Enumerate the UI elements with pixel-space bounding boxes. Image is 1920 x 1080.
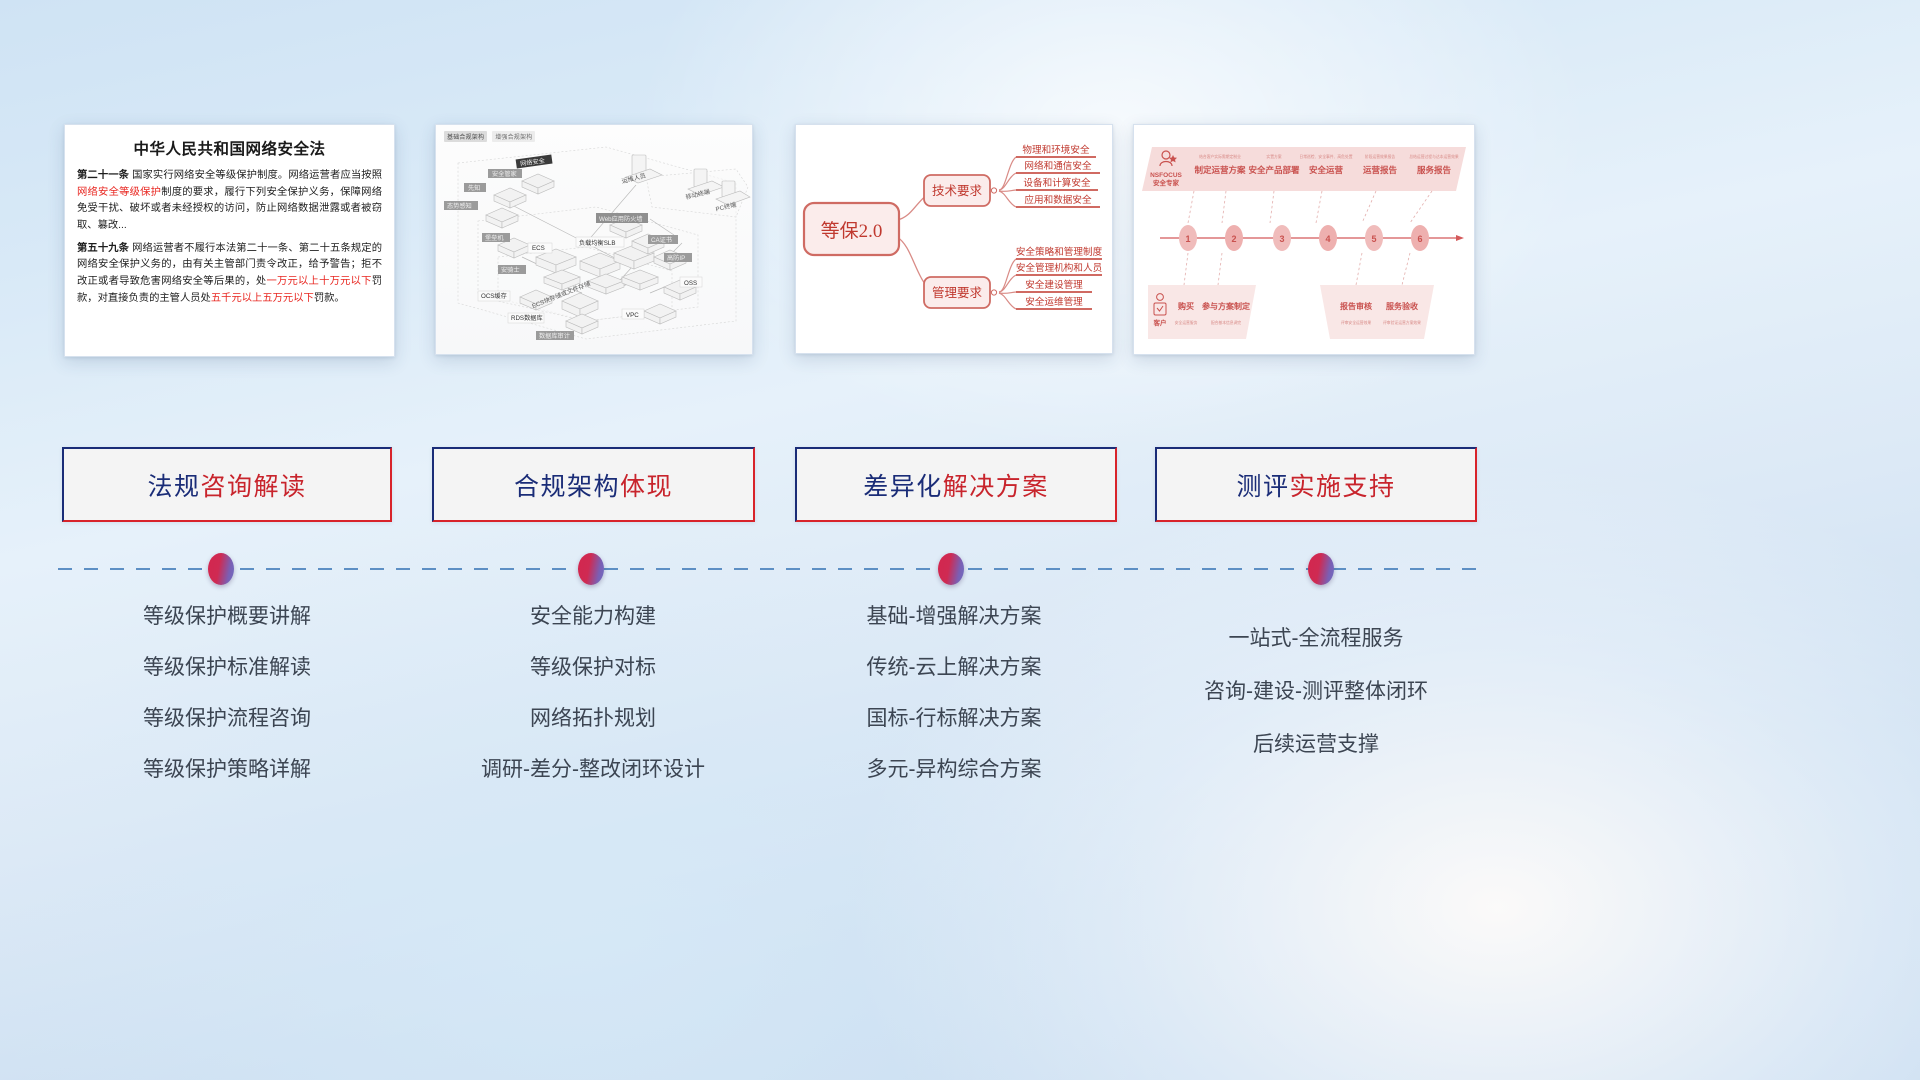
architecture-svg: 网络安全 安全管家 先知 态势感知 堡垒机 ECS 安骑士 xyxy=(436,125,753,355)
bottom-banner-right xyxy=(1320,285,1434,339)
headline-blue-part: 合规架构 xyxy=(514,473,620,501)
timeline-step-number: 6 xyxy=(1417,234,1422,244)
mindmap-root-label: 等保2.0 xyxy=(821,220,883,242)
arch-node-label: 高防IP xyxy=(667,254,685,262)
arch-node-label: ECS xyxy=(532,245,545,252)
list-item: 基础-增强解决方案 xyxy=(790,606,1118,627)
headline-blue-part: 测评 xyxy=(1236,473,1289,501)
top-step-sub: 日常巡检、安全事件、高危处置 xyxy=(1299,154,1352,159)
arch-node-label: RDS数据库 xyxy=(511,314,543,322)
headline-box-assessment-support[interactable]: 测评实施支持 xyxy=(1155,447,1477,522)
timeline-step-number: 2 xyxy=(1231,234,1236,244)
headline-box-regulation-consulting[interactable]: 法规咨询解读 xyxy=(62,447,392,522)
card-cybersecurity-law: 中华人民共和国网络安全法 第二十一条 国家实行网络安全等级保护制度。网络运营者应… xyxy=(64,124,395,357)
list-item: 等级保护策略详解 xyxy=(62,759,392,780)
arch-node-label: CA证书 xyxy=(651,236,672,244)
headline-blue-part: 法规 xyxy=(147,473,200,501)
dashed-timeline-axis xyxy=(58,568,1478,570)
mindmap-leaf: 设备和计算安全 xyxy=(1023,177,1091,189)
top-step-sub: 阶段运营效果报告 xyxy=(1365,154,1396,159)
slide-canvas: 中华人民共和国网络安全法 第二十一条 国家实行网络安全等级保护制度。网络运营者应… xyxy=(0,0,1920,1080)
mindmap-leaf: 网络和通信安全 xyxy=(1024,160,1092,172)
arch-node-label: 安全管家 xyxy=(492,170,517,178)
timeline-step-number: 5 xyxy=(1371,234,1376,244)
mindmap-leaf: 安全管理机构和人员 xyxy=(1016,262,1102,274)
top-step-sub: 结合客户实际需期定制业 xyxy=(1199,154,1241,159)
top-step-main: 运营报告 xyxy=(1363,165,1398,175)
bottom-step-sub: 安全运营服务 xyxy=(1175,320,1198,325)
top-step-main: 制定运营方案 xyxy=(1194,165,1246,175)
top-step-main: 安全产品部署 xyxy=(1248,165,1300,175)
detail-column-compliance-architecture: 安全能力构建 等级保护对标 网络拓扑规划 调研-差分-整改闭环设计 xyxy=(430,606,756,810)
headline-box-differentiated-solution[interactable]: 差异化解决方案 xyxy=(795,447,1117,522)
headline-text: 测评实施支持 xyxy=(1236,467,1395,503)
timeline-step-number: 3 xyxy=(1279,234,1284,244)
mindmap-leaf: 安全建设管理 xyxy=(1025,279,1083,291)
service-timeline-diagram: NSFOCUS安全专家 结合客户实际需期定制业 制定运营方案 实置方案 安全产品… xyxy=(1134,125,1474,354)
list-item: 调研-差分-整改闭环设计 xyxy=(430,759,756,780)
list-item: 等级保护流程咨询 xyxy=(62,708,392,729)
headline-boxes-row: 法规咨询解读 合规架构体现 差异化解决方案 测评实施支持 xyxy=(0,447,1920,523)
headline-red-part: 实施支持 xyxy=(1290,473,1396,501)
top-step-sub: 实置方案 xyxy=(1266,154,1281,159)
list-item: 咨询-建设-测评整体闭环 xyxy=(1150,681,1482,702)
mindmap-leaf: 应用和数据安全 xyxy=(1024,194,1092,206)
law-title: 中华人民共和国网络安全法 xyxy=(77,137,382,159)
mindmap-leaf: 物理和环境安全 xyxy=(1022,144,1090,156)
bottom-step-main: 报告审核 xyxy=(1340,301,1372,311)
mindmap-leaf: 安全运维管理 xyxy=(1025,296,1083,308)
bottom-step-main: 参与方案制定 xyxy=(1201,301,1250,311)
mindmap-diagram: 等保2.0 技术要求 xyxy=(796,125,1112,353)
timeline-svg: NSFOCUS安全专家 结合客户实际需期定制业 制定运营方案 实置方案 安全产品… xyxy=(1134,125,1475,355)
headline-box-compliance-architecture[interactable]: 合规架构体现 xyxy=(432,447,755,522)
card-nsfocus-service-timeline: NSFOCUS安全专家 结合客户实际需期定制业 制定运营方案 实置方案 安全产品… xyxy=(1133,124,1475,355)
top-step-main: 服务报告 xyxy=(1417,165,1452,175)
headline-text: 差异化解决方案 xyxy=(863,467,1049,503)
list-item: 等级保护概要讲解 xyxy=(62,606,392,627)
list-item: 安全能力构建 xyxy=(430,606,756,627)
list-item: 传统-云上解决方案 xyxy=(790,657,1118,678)
arch-node-label: OCS缓存 xyxy=(481,292,507,300)
law-article-21: 第二十一条 国家实行网络安全等级保护制度。网络运营者应当按照网络安全等级保护制度… xyxy=(77,168,382,235)
detail-column-differentiated-solution: 基础-增强解决方案 传统-云上解决方案 国标-行标解决方案 多元-异构综合方案 xyxy=(790,606,1118,810)
arch-node-label: 堡垒机 xyxy=(485,234,504,242)
arch-node-label: 负载均衡SLB xyxy=(579,239,615,247)
law-article-59-text-c: 罚款。 xyxy=(314,293,345,304)
headline-text: 法规咨询解读 xyxy=(147,467,306,503)
headline-blue-part: 差异化 xyxy=(863,473,943,501)
law-article-21-label: 第二十一条 xyxy=(77,170,129,181)
bottom-step-sub: 配合基本信息调完 xyxy=(1211,320,1242,325)
reference-cards-row: 中华人民共和国网络安全法 第二十一条 国家实行网络安全等级保护制度。网络运营者应… xyxy=(0,124,1920,364)
list-item: 国标-行标解决方案 xyxy=(790,708,1118,729)
headline-red-part: 体现 xyxy=(620,473,673,501)
headline-red-part: 咨询解读 xyxy=(201,473,307,501)
timeline-dot-4[interactable] xyxy=(1308,553,1334,585)
arch-node-label: 安骑士 xyxy=(501,266,520,274)
top-step-sub: 总结运营过程与达本运营效果 xyxy=(1409,154,1459,159)
mindmap-branch-label: 技术要求 xyxy=(932,184,983,198)
mindmap-branch-label: 管理要求 xyxy=(932,285,983,300)
law-article-59-highlight-2: 五千元以上五万元以下 xyxy=(211,293,314,304)
timeline-step-number: 4 xyxy=(1325,234,1330,244)
list-item: 多元-异构综合方案 xyxy=(790,759,1118,780)
mindmap-leaf: 安全策略和管理制度 xyxy=(1016,246,1103,258)
timeline-step-number: 1 xyxy=(1185,234,1190,244)
headline-text: 合规架构体现 xyxy=(514,467,673,503)
arch-node-label: 数据库审计 xyxy=(539,332,570,340)
timeline-dot-1[interactable] xyxy=(208,553,234,585)
list-item: 后续运营支撑 xyxy=(1150,734,1482,755)
customer-label: 客户 xyxy=(1153,318,1167,327)
architecture-diagram: 基础合规架构 增强合规架构 xyxy=(436,125,752,354)
timeline-dot-2[interactable] xyxy=(578,553,604,585)
arch-node-label: Web应用防火墙 xyxy=(599,215,643,223)
detail-column-assessment-support: 一站式-全流程服务 咨询-建设-测评整体闭环 后续运营支撑 xyxy=(1150,628,1482,787)
arch-node-label: VPC xyxy=(626,312,639,319)
law-article-21-highlight: 网络安全等级保护 xyxy=(77,187,161,198)
law-text-block: 中华人民共和国网络安全法 第二十一条 国家实行网络安全等级保护制度。网络运营者应… xyxy=(65,125,394,321)
timeline-dot-3[interactable] xyxy=(938,553,964,585)
card-compliance-architecture: 基础合规架构 增强合规架构 xyxy=(435,124,753,355)
top-step-main: 安全运营 xyxy=(1309,165,1344,175)
expert-label-line1: NSFOCUS安全专家 xyxy=(1150,172,1182,187)
bottom-step-main: 服务验收 xyxy=(1386,301,1418,311)
arch-node-label: 态势感知 xyxy=(447,202,472,210)
list-item: 等级保护标准解读 xyxy=(62,657,392,678)
list-item: 等级保护对标 xyxy=(430,657,756,678)
list-item: 网络拓扑规划 xyxy=(430,708,756,729)
timeline-arrow xyxy=(1456,235,1464,241)
law-article-59-label: 第五十九条 xyxy=(77,243,129,254)
detail-column-regulation-consulting: 等级保护概要讲解 等级保护标准解读 等级保护流程咨询 等级保护策略详解 xyxy=(62,606,392,810)
bottom-step-main: 购买 xyxy=(1178,301,1194,311)
law-article-59: 第五十九条 网络运营者不履行本法第二十一条、第二十五条规定的网络安全保护义务的，… xyxy=(77,241,382,308)
arch-node-label: 先知 xyxy=(468,184,480,192)
law-article-21-text-a: 国家实行网络安全等级保护制度。网络运营者应当按照 xyxy=(132,170,382,181)
headline-red-part: 解决方案 xyxy=(943,473,1049,501)
law-article-59-highlight-1: 一万元以上十万元以下 xyxy=(266,276,371,287)
mindmap-svg: 等保2.0 技术要求 xyxy=(796,125,1113,354)
list-item: 一站式-全流程服务 xyxy=(1150,628,1482,649)
arch-node-label: OSS xyxy=(684,280,697,287)
card-mindmap-dengbao: 等保2.0 技术要求 xyxy=(795,124,1113,354)
bottom-step-sub: 评审安全运营效果 xyxy=(1341,320,1372,325)
bottom-banner-left xyxy=(1148,285,1256,339)
bottom-step-sub: 评审验证运营方案效果 xyxy=(1383,320,1421,325)
